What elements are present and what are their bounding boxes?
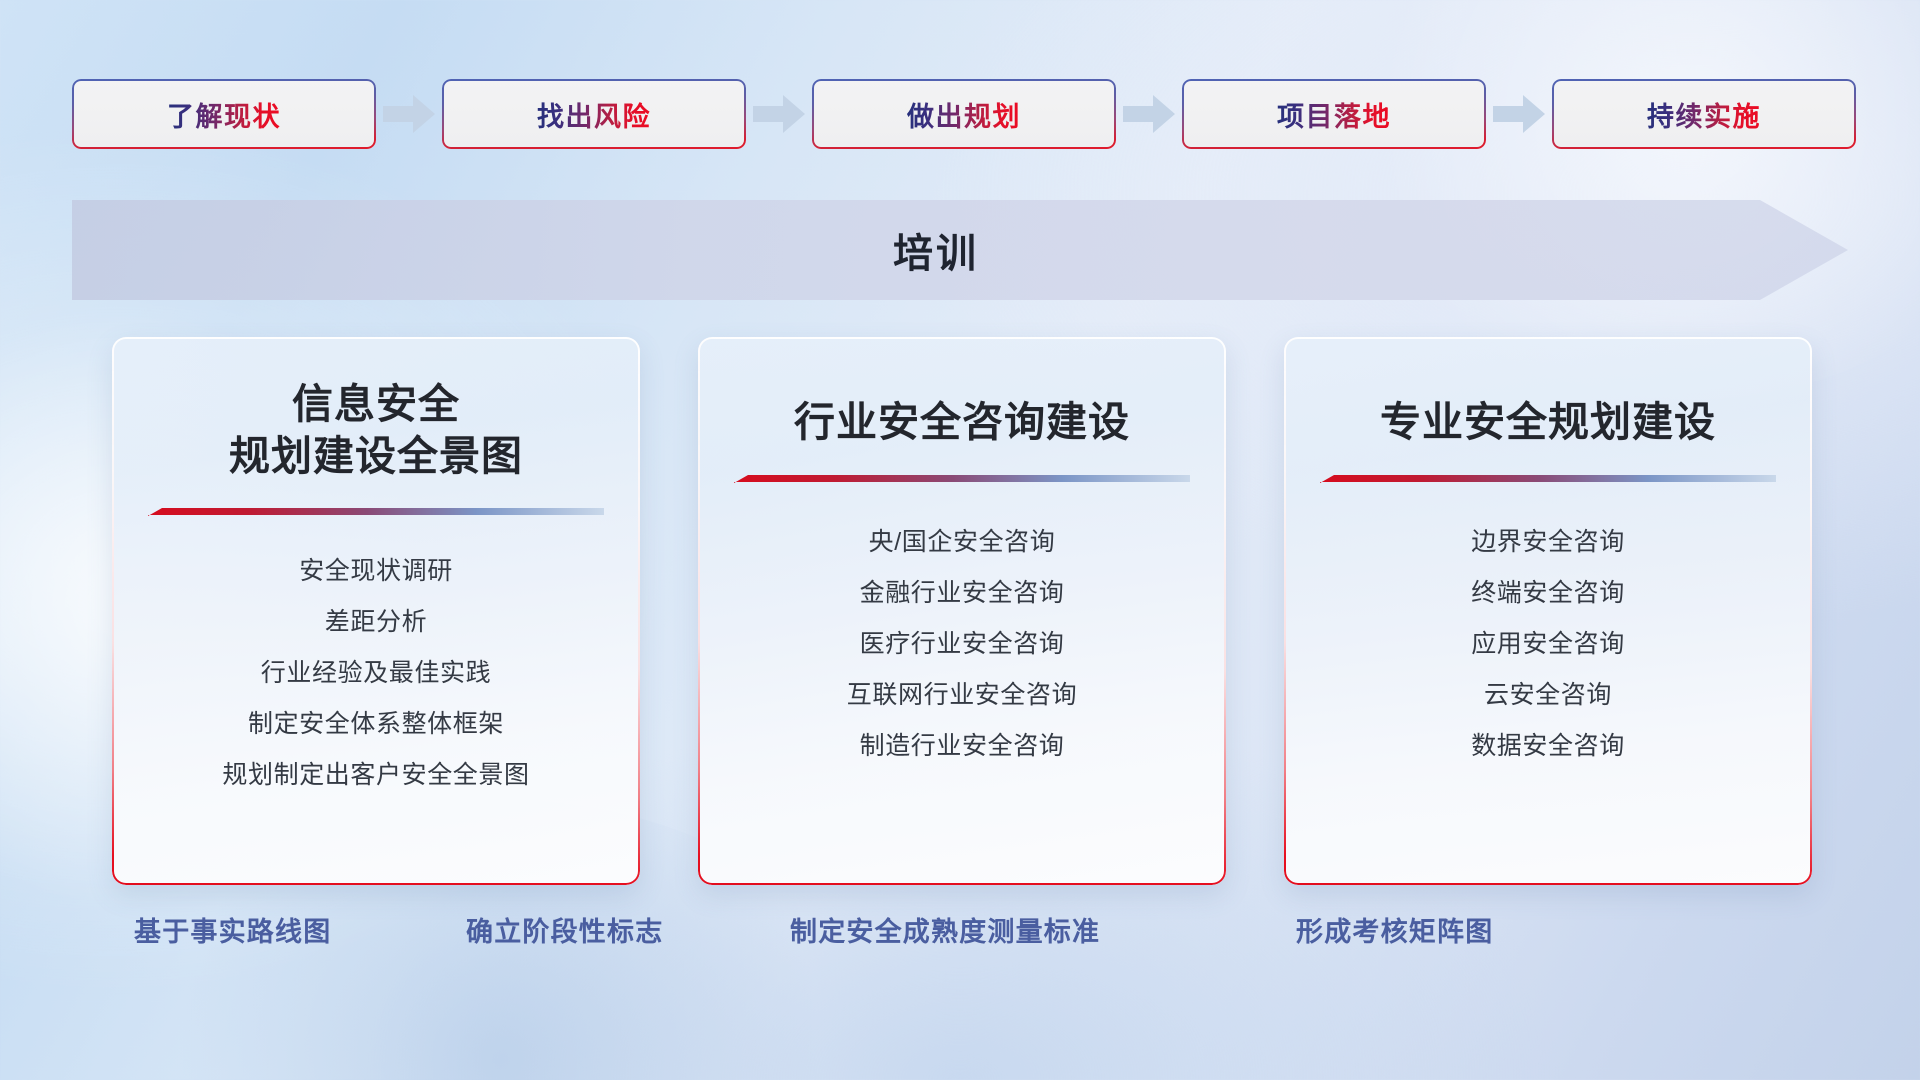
card-title: 行业安全咨询建设 bbox=[794, 397, 1130, 449]
card-divider bbox=[1320, 471, 1776, 487]
step-box-4[interactable]: 项目落地 bbox=[1182, 79, 1486, 149]
list-item: 云安全咨询 bbox=[1310, 670, 1786, 721]
banner-label: 培训 bbox=[72, 200, 1800, 300]
arrow-right-icon bbox=[1486, 95, 1552, 133]
card-professional-security-planning[interactable]: 专业安全规划建设 边界安全咨询 终端安全咨询 应用安全咨询 云安全 bbox=[1284, 337, 1812, 885]
captions-row: 基于事实路线图 确立阶段性标志 制定安全成熟度测量标准 形成考核矩阵图 bbox=[0, 910, 1920, 960]
card-item-list: 边界安全咨询 终端安全咨询 应用安全咨询 云安全咨询 数据安全咨询 bbox=[1310, 517, 1786, 772]
list-item: 安全现状调研 bbox=[138, 546, 614, 597]
step-label: 了解现状 bbox=[167, 95, 281, 134]
caption-roadmap: 基于事实路线图 bbox=[134, 910, 331, 949]
cards-row: 信息安全 规划建设全景图 安全现状调研 差距分析 行业经验及最佳实践 bbox=[112, 337, 1812, 885]
list-item: 制定安全体系整体框架 bbox=[138, 699, 614, 750]
list-item: 医疗行业安全咨询 bbox=[724, 619, 1200, 670]
caption-milestone: 确立阶段性标志 bbox=[466, 910, 663, 949]
list-item: 行业经验及最佳实践 bbox=[138, 648, 614, 699]
list-item: 央/国企安全咨询 bbox=[724, 517, 1200, 568]
card-information-security-blueprint[interactable]: 信息安全 规划建设全景图 安全现状调研 差距分析 行业经验及最佳实践 bbox=[112, 337, 640, 885]
caption-maturity: 制定安全成熟度测量标准 bbox=[790, 910, 1100, 949]
arrow-right-icon bbox=[746, 95, 812, 133]
training-banner: 培训 bbox=[72, 200, 1848, 300]
list-item: 应用安全咨询 bbox=[1310, 619, 1786, 670]
step-box-2[interactable]: 找出风险 bbox=[442, 79, 746, 149]
card-title: 信息安全 规划建设全景图 bbox=[229, 379, 523, 482]
list-item: 数据安全咨询 bbox=[1310, 721, 1786, 772]
arrow-right-icon bbox=[1116, 95, 1182, 133]
caption-matrix: 形成考核矩阵图 bbox=[1296, 910, 1493, 949]
step-label: 持续实施 bbox=[1647, 95, 1761, 134]
card-industry-security-consulting[interactable]: 行业安全咨询建设 央/国企安全咨询 金融行业安全咨询 医疗行业安全咨询 bbox=[698, 337, 1226, 885]
step-box-5[interactable]: 持续实施 bbox=[1552, 79, 1856, 149]
list-item: 差距分析 bbox=[138, 597, 614, 648]
card-divider bbox=[734, 471, 1190, 487]
list-item: 制造行业安全咨询 bbox=[724, 721, 1200, 772]
list-item: 边界安全咨询 bbox=[1310, 517, 1786, 568]
list-item: 金融行业安全咨询 bbox=[724, 568, 1200, 619]
card-item-list: 央/国企安全咨询 金融行业安全咨询 医疗行业安全咨询 互联网行业安全咨询 制造行… bbox=[724, 517, 1200, 772]
card-divider bbox=[148, 504, 604, 520]
step-label: 找出风险 bbox=[537, 95, 651, 134]
step-box-1[interactable]: 了解现状 bbox=[72, 79, 376, 149]
list-item: 规划制定出客户安全全景图 bbox=[138, 750, 614, 801]
list-item: 终端安全咨询 bbox=[1310, 568, 1786, 619]
arrow-right-icon bbox=[376, 95, 442, 133]
card-title: 专业安全规划建设 bbox=[1380, 397, 1716, 449]
process-steps: 了解现状 找出风险 做出规划 项目落地 持续实施 bbox=[72, 78, 1848, 150]
step-label: 项目落地 bbox=[1277, 95, 1391, 134]
step-label: 做出规划 bbox=[907, 95, 1021, 134]
step-box-3[interactable]: 做出规划 bbox=[812, 79, 1116, 149]
card-item-list: 安全现状调研 差距分析 行业经验及最佳实践 制定安全体系整体框架 规划制定出客户… bbox=[138, 546, 614, 801]
list-item: 互联网行业安全咨询 bbox=[724, 670, 1200, 721]
